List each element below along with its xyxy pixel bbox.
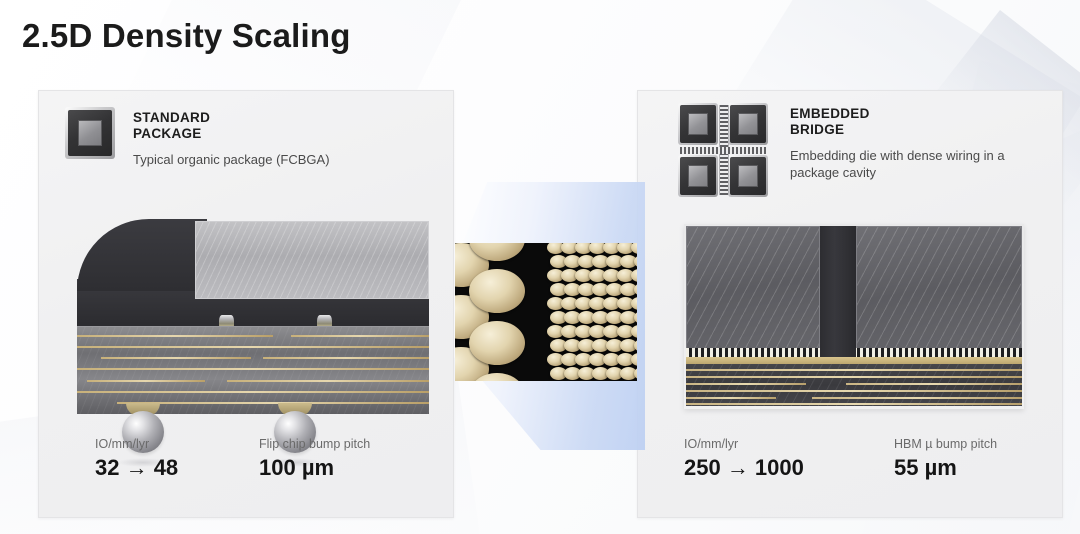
four-chip-bridge-icon: [678, 103, 768, 197]
bridge-chip: [728, 103, 768, 145]
stat-label: IO/mm/lyr: [684, 437, 894, 452]
silicon-die-left: [686, 226, 820, 350]
copper-trace: [77, 391, 429, 393]
mold-slope: [77, 219, 207, 291]
bridge-column: [820, 348, 856, 357]
chip-die: [688, 113, 709, 135]
coarse-bump-array: [455, 243, 527, 381]
copper-trace: [686, 403, 1022, 405]
stat-label: Flip chip bump pitch: [259, 437, 370, 452]
bridge-wiring-horizontal: [680, 147, 766, 154]
stat-value: 100 µm: [259, 454, 370, 482]
stat-label: HBM µ bump pitch: [894, 437, 997, 452]
chip-body: [680, 157, 716, 195]
page-title: 2.5D Density Scaling: [22, 17, 351, 55]
solder-bump: [469, 321, 525, 365]
panel-standard-package: STANDARD PACKAGE Typical organic package…: [38, 90, 454, 518]
single-chip-icon: [65, 107, 115, 159]
stat-value: 55 µm: [894, 454, 997, 482]
copper-trace: [812, 397, 1022, 399]
copper-trace: [846, 383, 1022, 385]
copper-trace: [686, 383, 806, 385]
copper-trace: [101, 357, 251, 359]
copper-trace: [87, 380, 205, 382]
copper-trace: [227, 380, 429, 382]
panel-title-line1: STANDARD: [133, 110, 330, 126]
silicon-die: [195, 221, 429, 299]
panel-title-line1: EMBEDDED: [790, 106, 1035, 122]
chip-body: [730, 157, 766, 195]
copper-trace: [686, 390, 1022, 392]
stats-row: IO/mm/lyr 32 → 48 Flip chip bump pitch 1…: [95, 437, 370, 482]
stats-row: IO/mm/lyr 250 → 1000 HBM µ bump pitch 55…: [684, 437, 997, 482]
panel-embedded-bridge: EMBEDDED BRIDGE Embedding die with dense…: [637, 90, 1063, 518]
panel-header: STANDARD PACKAGE Typical organic package…: [65, 107, 330, 168]
chip-die: [738, 165, 759, 187]
chip-die: [78, 120, 103, 146]
chip-die: [688, 165, 709, 187]
standard-package-cross-section: [77, 219, 429, 419]
chip-die: [738, 113, 759, 135]
stat-value: 250 → 1000: [684, 454, 894, 482]
copper-trace: [117, 402, 429, 404]
stat-value: 32 → 48: [95, 454, 259, 482]
panel-subtitle: Embedding die with dense wiring in a pac…: [790, 147, 1035, 181]
panel-header-text: EMBEDDED BRIDGE Embedding die with dense…: [790, 103, 1035, 181]
organic-substrate: [686, 364, 1022, 406]
stat-bump-pitch: Flip chip bump pitch 100 µm: [259, 437, 370, 482]
chip-body: [680, 105, 716, 143]
panel-title-line2: PACKAGE: [133, 126, 330, 142]
embedded-bridge-cross-section: [684, 224, 1024, 409]
solder-bump: [631, 325, 637, 338]
chip-body: [730, 105, 766, 143]
bridge-chip: [678, 103, 718, 145]
chip-body: [68, 110, 112, 156]
panel-header: EMBEDDED BRIDGE Embedding die with dense…: [678, 103, 1035, 197]
copper-trace: [263, 357, 429, 359]
panel-subtitle: Typical organic package (FCBGA): [133, 151, 330, 168]
solder-bump: [631, 243, 637, 254]
bridge-chip: [678, 155, 718, 197]
copper-trace: [77, 335, 273, 337]
copper-trace: [77, 346, 429, 348]
fine-bump-array: [551, 243, 637, 381]
copper-trace: [686, 397, 776, 399]
panel-header-text: STANDARD PACKAGE Typical organic package…: [133, 107, 330, 168]
bridge-chip: [728, 155, 768, 197]
copper-trace: [686, 376, 1022, 378]
bump-density-comparison-photo: [455, 243, 637, 381]
stat-bump-pitch: HBM µ bump pitch 55 µm: [894, 437, 997, 482]
mold-compound: [77, 219, 429, 327]
organic-substrate: [77, 326, 429, 414]
copper-trace: [77, 368, 429, 370]
solder-bump: [469, 269, 525, 313]
stat-io-density: IO/mm/lyr 32 → 48: [95, 437, 259, 482]
die-gap: [820, 226, 856, 354]
copper-trace: [291, 335, 429, 337]
stat-label: IO/mm/lyr: [95, 437, 259, 452]
bridge-die-layer: [686, 357, 1022, 364]
silicon-die-right: [856, 226, 1022, 350]
solder-bump: [631, 297, 637, 310]
panel-title-line2: BRIDGE: [790, 122, 1035, 138]
copper-trace: [686, 369, 1022, 371]
solder-bump: [631, 353, 637, 366]
stat-io-density: IO/mm/lyr 250 → 1000: [684, 437, 894, 482]
solder-bump: [631, 269, 637, 282]
